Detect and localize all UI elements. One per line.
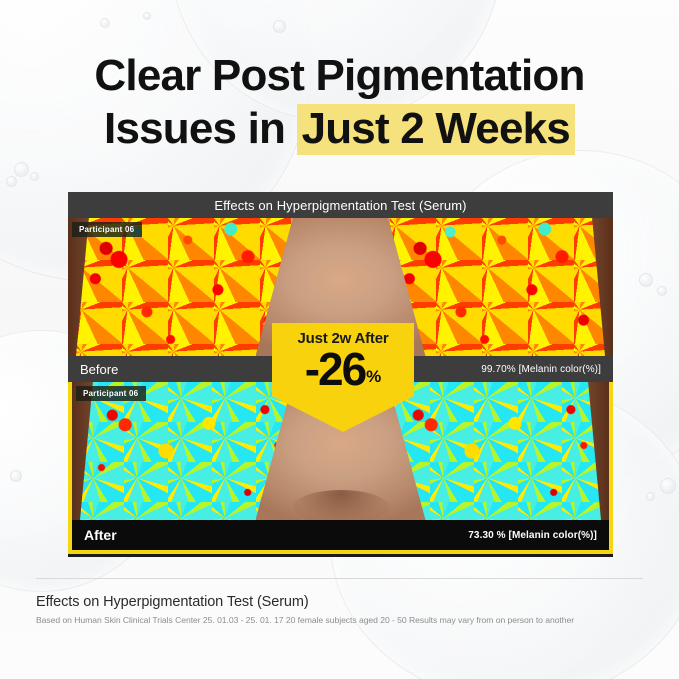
background-bubble-small: [10, 470, 22, 482]
participant-tag-before: Participant 06: [72, 222, 142, 237]
background-bubble-small: [143, 12, 151, 20]
participant-tag-after: Participant 06: [76, 386, 146, 401]
hyperpigmentation-figure: Effects on Hyperpigmentation Test (Serum…: [68, 192, 613, 557]
nose-shadow: [293, 490, 389, 520]
background-bubble-small: [646, 492, 655, 501]
background-bubble-small: [6, 176, 17, 187]
after-label: After: [84, 527, 117, 543]
callout-box: Just 2w After -26 %: [272, 323, 414, 396]
after-melanin-value: 73.30 % [Melanin color(%)]: [468, 530, 597, 541]
footer: Effects on Hyperpigmentation Test (Serum…: [36, 594, 646, 625]
background-bubble-small: [660, 478, 676, 494]
before-melanin-value: 99.70% [Melanin color(%)]: [481, 364, 601, 375]
figure-title-bar: Effects on Hyperpigmentation Test (Serum…: [68, 192, 613, 218]
background-bubble-small: [14, 162, 29, 177]
callout-value: -26: [305, 348, 365, 390]
callout-value-row: -26 %: [272, 348, 414, 390]
background-bubble-small: [30, 172, 39, 181]
callout-unit: %: [366, 368, 381, 385]
callout-arrow-icon: [272, 396, 414, 432]
footer-title: Effects on Hyperpigmentation Test (Serum…: [36, 594, 646, 610]
headline-line-2: Issues in Just 2 Weeks: [0, 103, 679, 156]
after-label-bar: After 73.30 % [Melanin color(%)]: [68, 520, 613, 554]
background-bubble-small: [100, 18, 110, 28]
heatmap-right-cheek-before: [390, 218, 605, 356]
headline-line-1: Clear Post Pigmentation: [0, 50, 679, 103]
background-bubble-small: [273, 20, 286, 33]
footer-divider: [36, 578, 643, 579]
result-callout-badge: Just 2w After -26 %: [272, 323, 414, 432]
page-title: Clear Post Pigmentation Issues in Just 2…: [0, 50, 679, 156]
heatmap-left-cheek-before: [76, 218, 291, 356]
figure-title: Effects on Hyperpigmentation Test (Serum…: [214, 198, 466, 213]
before-label: Before: [80, 362, 118, 377]
headline-prefix: Issues in: [104, 104, 297, 153]
background-bubble-small: [639, 273, 653, 287]
footer-disclaimer: Based on Human Skin Clinical Trials Cent…: [36, 615, 646, 625]
headline-highlight: Just 2 Weeks: [297, 104, 575, 155]
background-bubble-small: [657, 286, 667, 296]
